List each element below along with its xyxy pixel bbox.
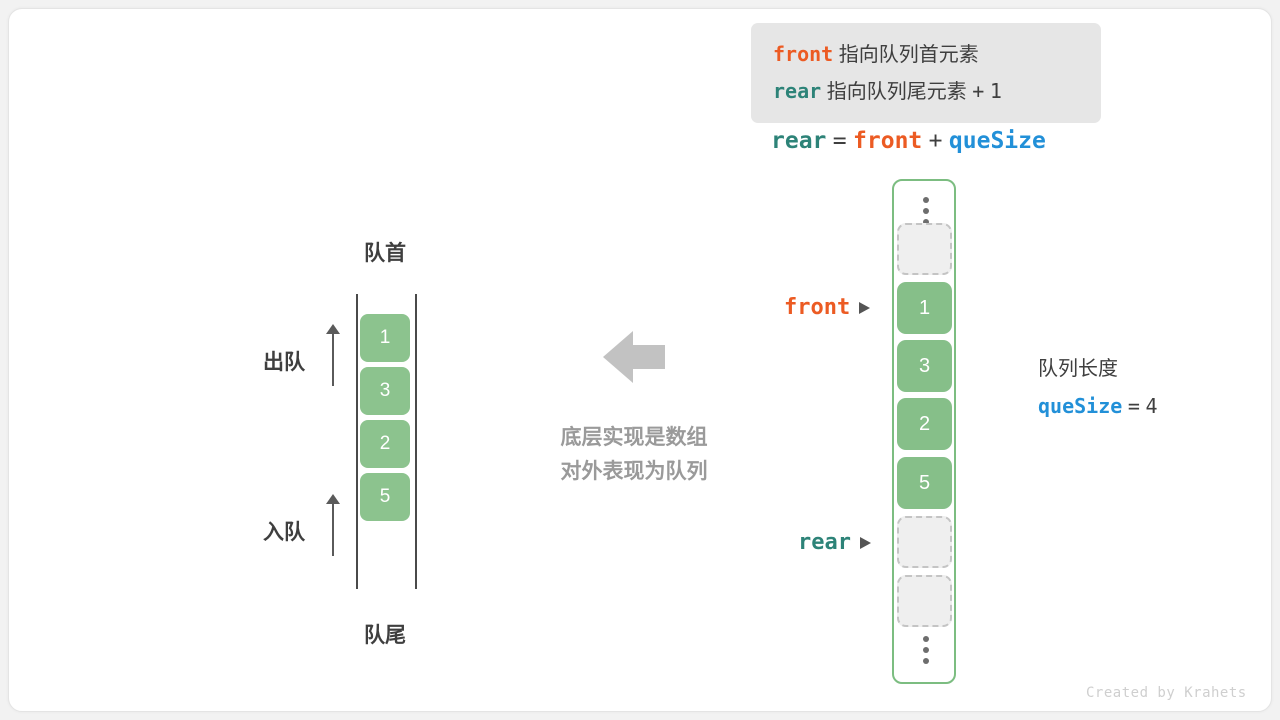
legend-text-rear: 指向队列尾元素: [827, 79, 967, 103]
center-caption: 底层实现是数组 对外表现为队列: [507, 421, 761, 489]
legend-line-front: front 指向队列首元素: [773, 36, 1101, 73]
enqueue-arrow-icon: [326, 494, 340, 556]
formula-rhs-front: front: [853, 128, 922, 154]
caption-line-1: 底层实现是数组: [507, 421, 761, 455]
formula-lhs-rear: rear: [771, 128, 826, 154]
formula-rhs-quesize: queSize: [949, 128, 1046, 154]
array-slot: 1: [897, 282, 952, 334]
legend-box: front 指向队列首元素 rear 指向队列尾元素 + 1: [751, 23, 1101, 123]
quesize-value: 4: [1145, 394, 1157, 418]
queue-size-expression: queSize = 4: [1038, 388, 1158, 426]
formula-rear-equals: rear = front + queSize: [771, 127, 1046, 154]
ellipsis-bottom-icon: [923, 636, 929, 669]
queue-cell: 2: [360, 420, 410, 468]
caption-line-2: 对外表现为队列: [507, 455, 761, 489]
diagram-card: front 指向队列首元素 rear 指向队列尾元素 + 1 rear = fr…: [8, 8, 1272, 712]
queue-tail-label: 队尾: [305, 619, 465, 649]
queue-rail-right: [415, 294, 417, 589]
dequeue-label: 出队: [263, 346, 305, 376]
queue-size-note: 队列长度 queSize = 4: [1038, 351, 1158, 426]
queue-rail-left: [356, 294, 358, 589]
credit-text: Created by Krahets: [1086, 685, 1247, 701]
queue-head-label: 队首: [305, 237, 465, 267]
dequeue-arrow-icon: [326, 324, 340, 386]
array-slot: [897, 575, 952, 627]
array-slot: 5: [897, 457, 952, 509]
queue-cell: 5: [360, 473, 410, 521]
quesize-equals: =: [1128, 394, 1140, 418]
quesize-var: queSize: [1038, 394, 1122, 418]
legend-line-rear: rear 指向队列尾元素 + 1: [773, 73, 1101, 110]
array-slot: [897, 223, 952, 275]
formula-equals-sign: =: [833, 128, 847, 154]
pointer-rear: rear: [798, 530, 871, 555]
pointer-rear-label: rear: [798, 530, 851, 555]
legend-term-rear: rear: [773, 79, 821, 103]
array-slot: 3: [897, 340, 952, 392]
array-slot: [897, 516, 952, 568]
pointer-front-label: front: [784, 295, 850, 320]
pointer-front: front: [784, 295, 870, 320]
formula-plus-sign: +: [929, 128, 943, 154]
queue-size-label: 队列长度: [1038, 351, 1158, 388]
queue-cell: 1: [360, 314, 410, 362]
legend-text-front: 指向队列首元素: [839, 42, 979, 66]
array-slot: 2: [897, 398, 952, 450]
diagram-canvas: front 指向队列首元素 rear 指向队列尾元素 + 1 rear = fr…: [0, 0, 1280, 720]
legend-plus-op: +: [972, 79, 984, 103]
pointer-rear-marker-icon: [860, 537, 871, 549]
legend-term-front: front: [773, 42, 833, 66]
legend-plus-value: 1: [990, 79, 1002, 103]
transform-arrow-icon: [603, 331, 665, 383]
queue-cell: 3: [360, 367, 410, 415]
pointer-front-marker-icon: [859, 302, 870, 314]
enqueue-label: 入队: [263, 516, 305, 546]
